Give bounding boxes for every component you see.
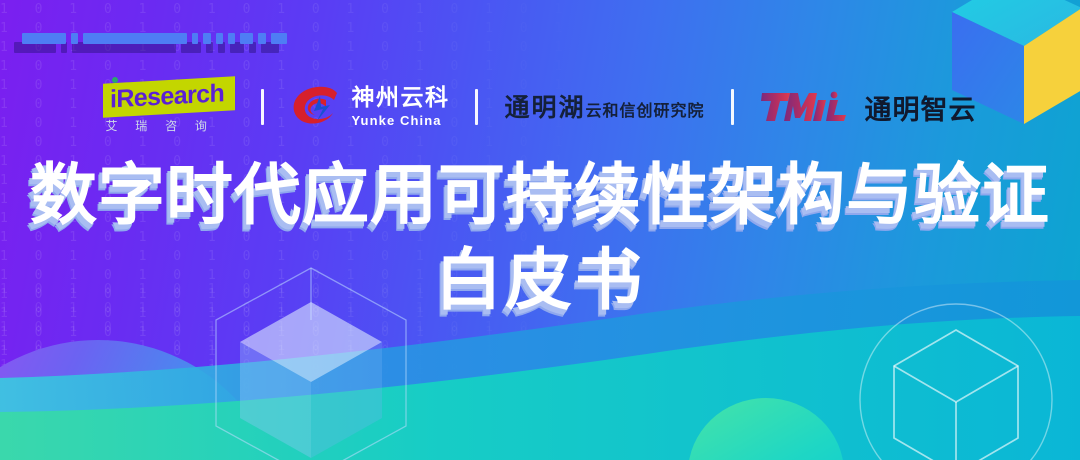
dash-decoration	[22, 33, 292, 44]
title-line-1: 数字时代应用可持续性架构与验证	[0, 160, 1080, 231]
yunke-swirl-icon	[290, 85, 342, 129]
iresearch-chinese-name: 艾 瑞 咨 询	[105, 117, 233, 134]
partner-logo-strip: iResearch 艾 瑞 咨 询 神州云科 Yunke China 通明湖 云…	[0, 76, 1080, 138]
logo-separator-2	[475, 89, 478, 125]
cover-title: 数字时代应用可持续性架构与验证 白皮书	[0, 160, 1080, 316]
title-line-2: 白皮书	[0, 245, 1080, 316]
tongminghu-line2: 云和信创研究院	[586, 103, 705, 119]
logo-tml[interactable]: 通明智云	[760, 88, 977, 127]
logo-separator-3	[731, 89, 734, 125]
logo-tongminghu[interactable]: 通明湖 云和信创研究院	[504, 95, 704, 120]
tml-wordmark-icon	[760, 90, 856, 124]
whitepaper-cover-banner: 1 0 1 0 1 0 1 0 1 0 1 0 1 0 1 0 1 0 1 0 …	[0, 0, 1080, 460]
yunke-chinese-name: 神州云科	[351, 87, 449, 110]
tml-chinese-name: 通明智云	[865, 88, 977, 127]
tongminghu-line1: 通明湖	[504, 95, 585, 120]
logo-iresearch[interactable]: iResearch 艾 瑞 咨 询	[103, 78, 235, 136]
logo-yunke[interactable]: 神州云科 Yunke China	[290, 85, 449, 129]
yunke-english-name: Yunke China	[351, 114, 449, 127]
logo-separator-1	[261, 89, 264, 125]
